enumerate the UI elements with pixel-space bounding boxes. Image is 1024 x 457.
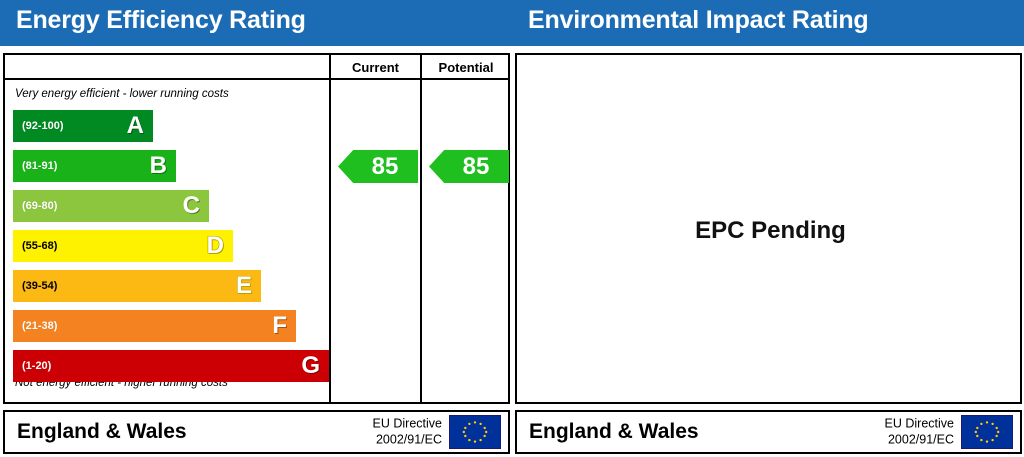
band-e: (39-54) E — [13, 270, 261, 302]
environmental-impact-title: Environmental Impact Rating — [528, 6, 869, 35]
energy-efficiency-title: Energy Efficiency Rating — [16, 6, 306, 35]
column-header-current: Current — [331, 59, 420, 77]
band-a-letter: A — [127, 114, 144, 138]
column-header-potential: Potential — [422, 59, 510, 77]
band-c-letter: C — [183, 194, 200, 218]
band-a-range: (92-100) — [22, 120, 64, 132]
band-d: (55-68) D — [13, 230, 233, 262]
footer-directive-left: EU Directive 2002/91/EC — [373, 416, 442, 447]
current-rating-value: 85 — [358, 155, 399, 179]
band-e-letter: E — [236, 274, 252, 298]
band-g-letter: G — [301, 354, 320, 378]
footer-directive-line2: 2002/91/EC — [885, 432, 954, 448]
footer-directive-line1: EU Directive — [373, 416, 442, 432]
band-b-letter: B — [150, 154, 167, 178]
footer-region-left: England & Wales — [17, 420, 187, 444]
footer-directive-right: EU Directive 2002/91/EC — [885, 416, 954, 447]
environmental-impact-titlebar: Environmental Impact Rating — [512, 0, 1024, 46]
environmental-impact-footer: England & Wales EU Directive 2002/91/EC — [515, 410, 1022, 454]
band-b: (81-91) B — [13, 150, 176, 182]
energy-efficiency-footer: England & Wales EU Directive 2002/91/EC — [3, 410, 510, 454]
potential-rating-value: 85 — [449, 155, 490, 179]
band-a: (92-100) A — [13, 110, 153, 142]
band-c: (69-80) C — [13, 190, 209, 222]
band-d-letter: D — [207, 234, 224, 258]
current-rating-arrow: 85 — [338, 150, 418, 183]
potential-rating-arrow: 85 — [429, 150, 509, 183]
footer-directive-line2: 2002/91/EC — [373, 432, 442, 448]
column-divider-2 — [420, 55, 422, 402]
energy-efficiency-titlebar: Energy Efficiency Rating — [0, 0, 512, 46]
band-f-letter: F — [272, 314, 287, 338]
band-d-range: (55-68) — [22, 240, 57, 252]
band-g: (1-20) G — [13, 350, 329, 382]
band-f-range: (21-38) — [22, 320, 57, 332]
energy-efficiency-chart: Current Potential Very energy efficient … — [3, 53, 510, 404]
epc-pending-message: EPC Pending — [517, 55, 1024, 406]
epc-chart-page: Energy Efficiency Rating Current Potenti… — [0, 0, 1024, 457]
environmental-impact-panel: Environmental Impact Rating EPC Pending … — [512, 0, 1024, 457]
band-e-range: (39-54) — [22, 280, 57, 292]
eu-flag-icon — [449, 415, 501, 449]
band-b-range: (81-91) — [22, 160, 57, 172]
eu-flag-icon — [961, 415, 1013, 449]
footer-region-right: England & Wales — [529, 420, 699, 444]
band-g-range: (1-20) — [22, 360, 51, 372]
band-f: (21-38) F — [13, 310, 296, 342]
energy-efficiency-panel: Energy Efficiency Rating Current Potenti… — [0, 0, 512, 457]
caption-very-efficient: Very energy efficient - lower running co… — [15, 88, 229, 100]
footer-directive-line1: EU Directive — [885, 416, 954, 432]
environmental-impact-chart: EPC Pending — [515, 53, 1022, 404]
column-divider-1 — [329, 55, 331, 402]
band-c-range: (69-80) — [22, 200, 57, 212]
